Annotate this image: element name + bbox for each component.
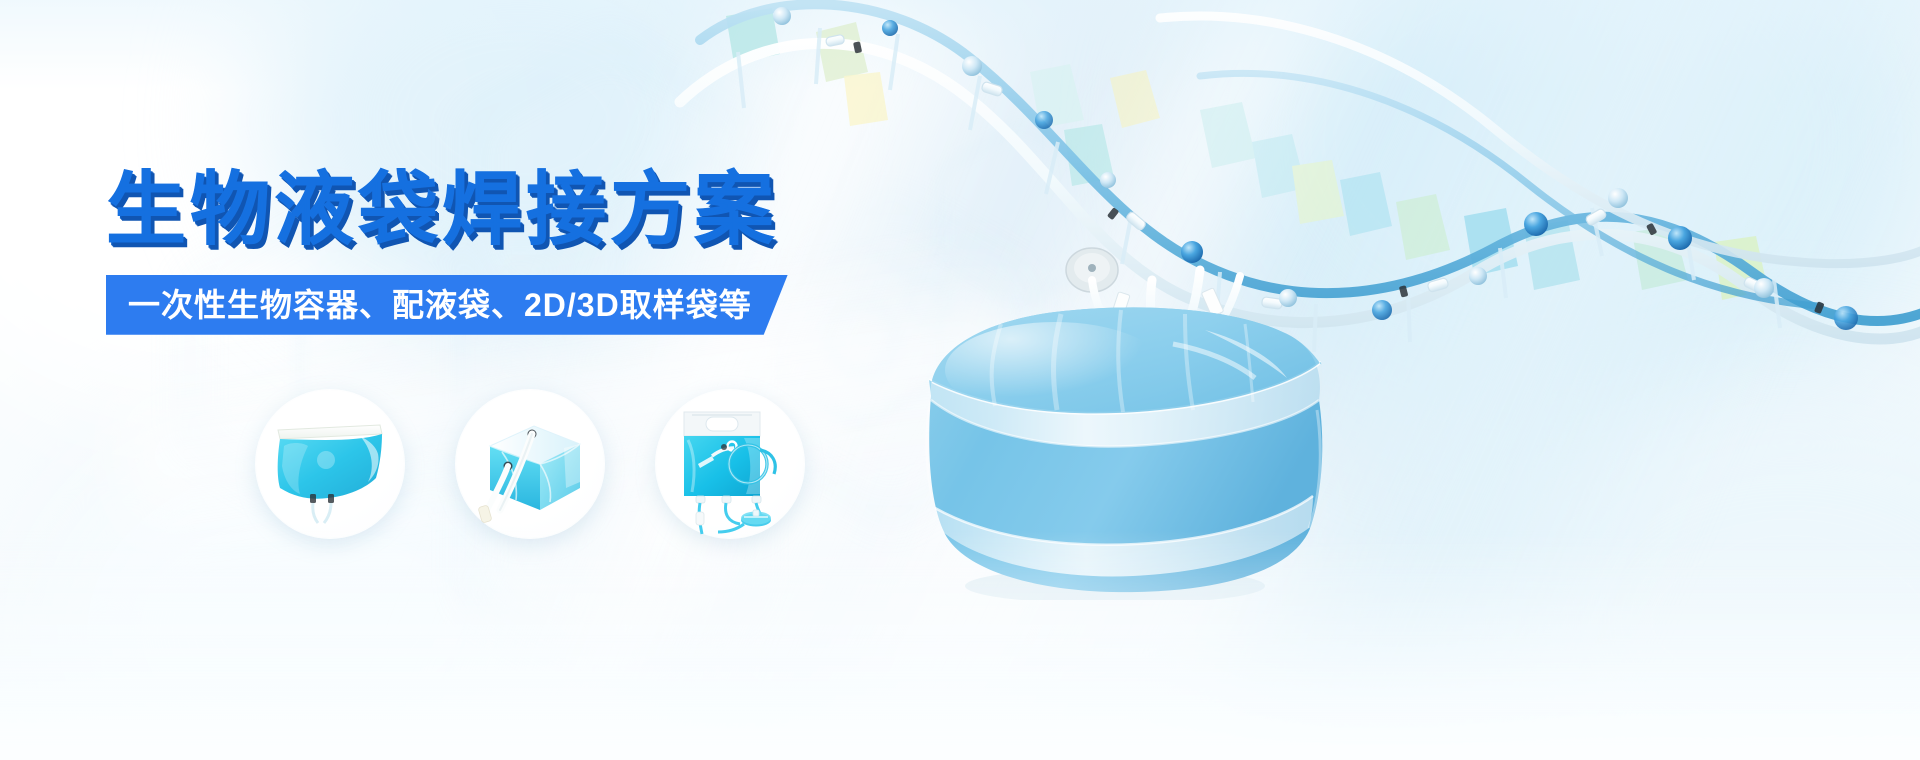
thumbnail-2d-pillow-bag[interactable] xyxy=(256,390,404,538)
large-3d-bioreactor-bag xyxy=(905,300,1325,600)
page-title: 生物液袋焊接方案 xyxy=(106,168,986,253)
subtitle-ribbon: 一次性生物容器、配液袋、2D/3D取样袋等 xyxy=(106,275,788,335)
product-hero-banner: 生物液袋焊接方案 一次性生物容器、配液袋、2D/3D取样袋等 xyxy=(0,0,1920,760)
thumbnail-3d-cube-bag[interactable] xyxy=(456,390,604,538)
background-blob xyxy=(1480,380,1920,760)
product-thumbnail-list xyxy=(256,390,804,538)
3d-cube-bag-icon xyxy=(456,390,604,538)
2d-sampling-bag-icon xyxy=(656,390,804,538)
thumbnail-2d-sampling-bag[interactable] xyxy=(656,390,804,538)
banner-copy: 生物液袋焊接方案 一次性生物容器、配液袋、2D/3D取样袋等 xyxy=(106,168,986,335)
top-shadow-overlay xyxy=(0,0,1920,90)
2d-pillow-bag-icon xyxy=(256,390,404,538)
